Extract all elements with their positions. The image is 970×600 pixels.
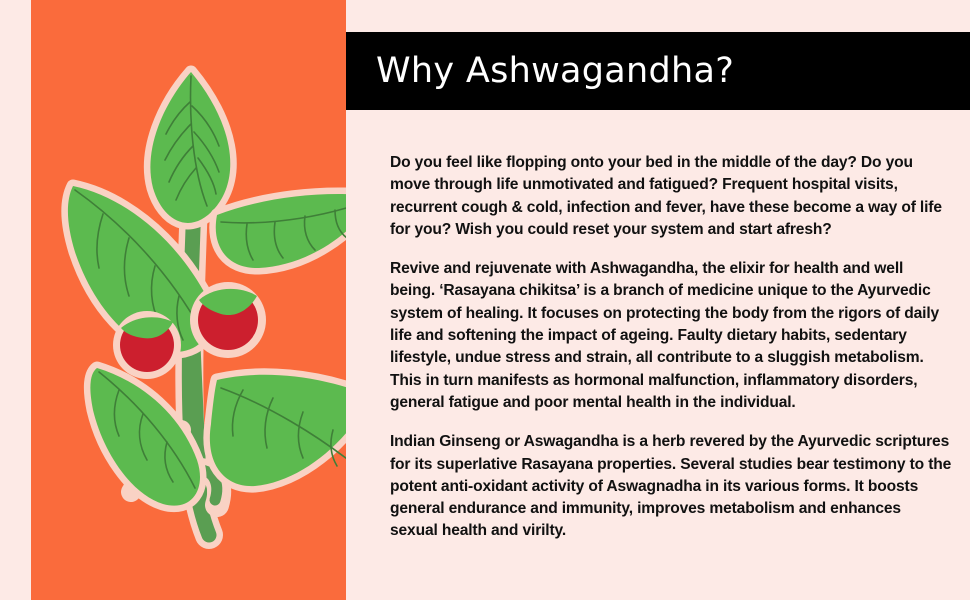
- ashwagandha-plant-icon: .lf { fill:#5CBA4F; } .ln { fill:none; s…: [31, 0, 346, 600]
- illustration-panel: .lf { fill:#5CBA4F; } .ln { fill:none; s…: [31, 0, 346, 600]
- body-paragraph: Do you feel like flopping onto your bed …: [390, 152, 952, 241]
- berry-right: [190, 282, 266, 358]
- berry-left: [113, 311, 181, 379]
- body-paragraph: Indian Ginseng or Aswagandha is a herb r…: [390, 431, 952, 542]
- title-banner: Why Ashwagandha?: [346, 32, 970, 110]
- page-title: Why Ashwagandha?: [376, 51, 734, 91]
- article-body: Do you feel like flopping onto your bed …: [390, 152, 952, 543]
- promo-page: .lf { fill:#5CBA4F; } .ln { fill:none; s…: [0, 0, 970, 600]
- body-paragraph: Revive and rejuvenate with Ashwagandha, …: [390, 258, 952, 414]
